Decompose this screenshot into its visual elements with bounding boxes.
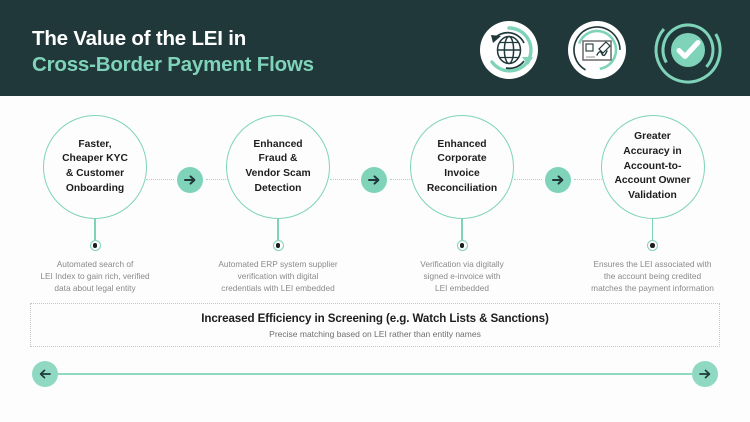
step-4-label: Greater Accuracy in Account-to- Account … bbox=[608, 130, 696, 203]
screening-title: Increased Efficiency in Screening (e.g. … bbox=[201, 312, 549, 325]
arrow-left-icon bbox=[32, 361, 58, 387]
screening-subtitle: Precise matching based on LEI rather tha… bbox=[269, 329, 481, 339]
title-line-2: Cross-Border Payment Flows bbox=[32, 52, 314, 78]
connector-dots-left bbox=[514, 179, 542, 181]
step-2-caption: Automated ERP system supplier verificati… bbox=[198, 258, 358, 294]
step-1-label: Faster, Cheaper KYC & Customer Onboardin… bbox=[56, 138, 134, 196]
step-4-caption: Ensures the LEI associated with the acco… bbox=[565, 258, 740, 294]
header-icon-group bbox=[476, 14, 724, 86]
title-line-1: The Value of the LEI in bbox=[32, 26, 314, 52]
flow-step-1[interactable]: Faster, Cheaper KYC & Customer Onboardin… bbox=[15, 105, 175, 294]
step-2-circle: Enhanced Fraud & Vendor Scam Detection bbox=[226, 115, 330, 219]
screening-panel: Increased Efficiency in Screening (e.g. … bbox=[30, 303, 720, 347]
step-4-stem bbox=[652, 219, 653, 240]
step-3-caption: Verification via digitally signed e-invo… bbox=[382, 258, 542, 294]
step-3-circle: Enhanced Corporate Invoice Reconciliatio… bbox=[410, 115, 514, 219]
header-banner: The Value of the LEI in Cross-Border Pay… bbox=[0, 0, 750, 96]
step-4-circle: Greater Accuracy in Account-to- Account … bbox=[601, 115, 705, 219]
page-title: The Value of the LEI in Cross-Border Pay… bbox=[32, 26, 314, 78]
step-2-stem bbox=[277, 219, 278, 240]
bidirectional-arrow-bar bbox=[32, 361, 718, 387]
step-3-dot-icon bbox=[457, 240, 468, 251]
flow-step-2[interactable]: Enhanced Fraud & Vendor Scam Detection A… bbox=[198, 105, 358, 294]
step-2-label: Enhanced Fraud & Vendor Scam Detection bbox=[239, 138, 316, 196]
signed-document-icon bbox=[564, 17, 630, 83]
verified-check-icon bbox=[652, 14, 724, 86]
flow-step-4[interactable]: Greater Accuracy in Account-to- Account … bbox=[565, 105, 740, 294]
flow-step-3[interactable]: Enhanced Corporate Invoice Reconciliatio… bbox=[382, 105, 542, 294]
globe-refresh-icon bbox=[476, 17, 542, 83]
step-3-label: Enhanced Corporate Invoice Reconciliatio… bbox=[421, 138, 503, 196]
step-3-stem bbox=[461, 219, 462, 240]
infographic-page: The Value of the LEI in Cross-Border Pay… bbox=[0, 0, 750, 422]
arrow-right-icon bbox=[692, 361, 718, 387]
flow-steps: Faster, Cheaper KYC & Customer Onboardin… bbox=[0, 105, 750, 290]
step-1-circle: Faster, Cheaper KYC & Customer Onboardin… bbox=[43, 115, 147, 219]
bidirectional-arrow-line bbox=[58, 373, 692, 376]
step-4-dot-icon bbox=[647, 240, 658, 251]
step-1-caption: Automated search of LEI Index to gain ri… bbox=[15, 258, 175, 294]
connector-dots-left bbox=[330, 179, 358, 181]
connector-dots-left bbox=[146, 179, 174, 181]
step-2-dot-icon bbox=[273, 240, 284, 251]
step-1-dot-icon bbox=[90, 240, 101, 251]
step-1-stem bbox=[94, 219, 95, 240]
